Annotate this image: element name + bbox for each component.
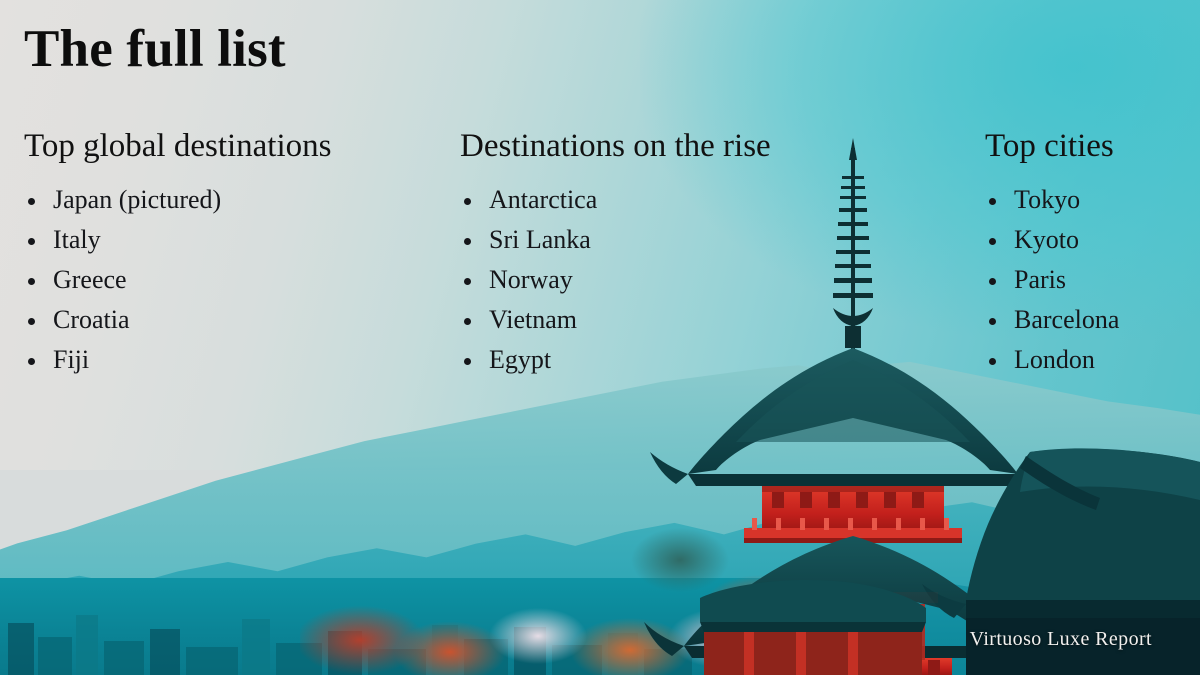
list-item: Italy (24, 220, 332, 260)
list-item: Japan (pictured) (24, 180, 332, 220)
destination-list: Japan (pictured) Italy Greece Croatia Fi… (24, 180, 332, 380)
list-item: Egypt (460, 340, 771, 380)
list-item: Croatia (24, 300, 332, 340)
list-item: London (985, 340, 1119, 380)
image-credit: Virtuoso Luxe Report (970, 628, 1152, 651)
list-item: Fiji (24, 340, 332, 380)
list-column-top-cities: Top cities Tokyo Kyoto Paris Barcelona L… (985, 128, 1119, 380)
column-heading: Top cities (985, 128, 1119, 166)
list-item: Barcelona (985, 300, 1119, 340)
list-item: Sri Lanka (460, 220, 771, 260)
list-column-top-global-destinations: Top global destinations Japan (pictured)… (24, 128, 332, 380)
city-list: Tokyo Kyoto Paris Barcelona London (985, 180, 1119, 380)
column-heading: Destinations on the rise (460, 128, 771, 166)
destination-list: Antarctica Sri Lanka Norway Vietnam Egyp… (460, 180, 771, 380)
list-item: Greece (24, 260, 332, 300)
column-heading: Top global destinations (24, 128, 332, 166)
slide-canvas: The full list Top global destinations Ja… (0, 0, 1200, 675)
list-item: Kyoto (985, 220, 1119, 260)
list-item: Tokyo (985, 180, 1119, 220)
list-column-destinations-on-the-rise: Destinations on the rise Antarctica Sri … (460, 128, 771, 380)
list-item: Norway (460, 260, 771, 300)
page-title: The full list (24, 20, 286, 78)
list-item: Antarctica (460, 180, 771, 220)
list-item: Vietnam (460, 300, 771, 340)
list-item: Paris (985, 260, 1119, 300)
slide-content: The full list Top global destinations Ja… (0, 0, 1200, 675)
